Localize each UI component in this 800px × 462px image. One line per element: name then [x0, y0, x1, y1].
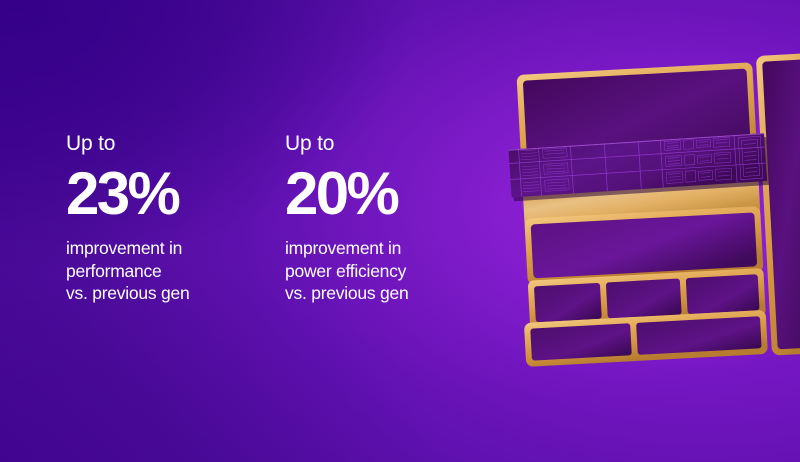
- stat-figure: 20%: [285, 163, 445, 225]
- stat-eyebrow: Up to: [66, 131, 226, 157]
- slide-canvas: Up to 23% improvement in performance vs.…: [0, 0, 800, 462]
- stat-card-performance: Up to 23% improvement in performance vs.…: [66, 131, 226, 305]
- stat-description-line: vs. previous gen: [285, 282, 445, 305]
- stat-description: improvement in power efficiency vs. prev…: [285, 237, 445, 305]
- stat-description-line: improvement in: [66, 237, 226, 260]
- stat-description-line: performance: [66, 260, 226, 283]
- stat-figure: 23%: [66, 163, 226, 225]
- stat-eyebrow: Up to: [285, 131, 445, 157]
- stat-description: improvement in performance vs. previous …: [66, 237, 226, 305]
- stat-description-line: power efficiency: [285, 260, 445, 283]
- stat-card-power-efficiency: Up to 20% improvement in power efficienc…: [285, 131, 445, 305]
- stat-description-line: improvement in: [285, 237, 445, 260]
- stats-group: Up to 23% improvement in performance vs.…: [66, 131, 445, 305]
- stat-description-line: vs. previous gen: [66, 282, 226, 305]
